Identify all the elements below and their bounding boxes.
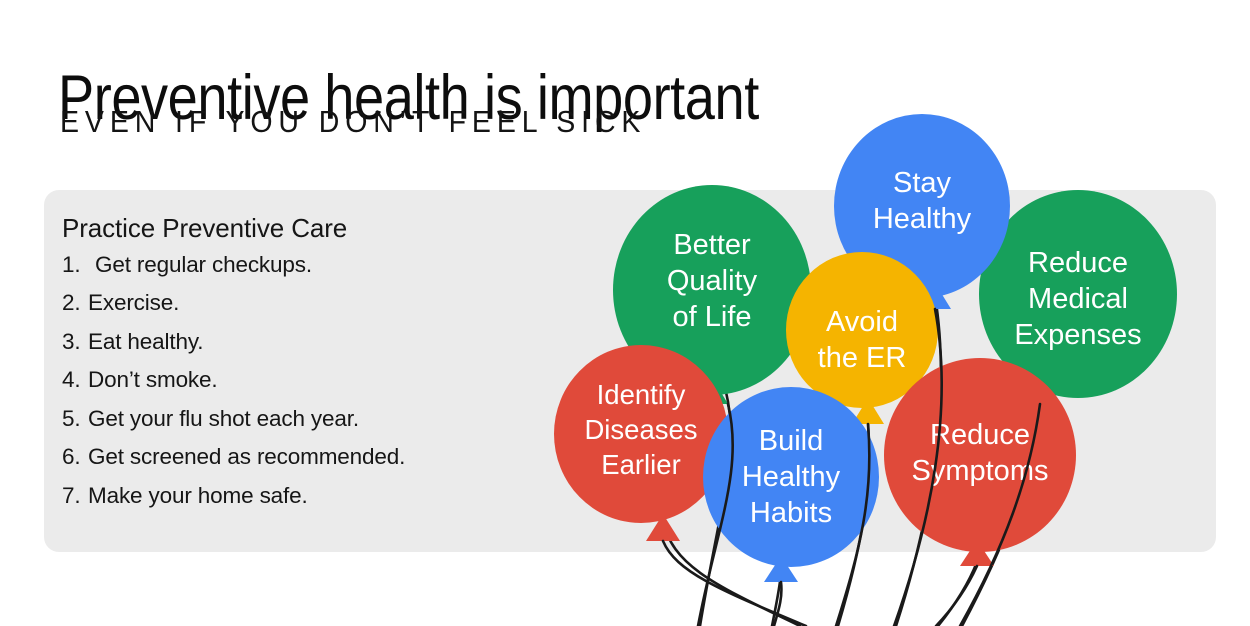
list-item-number: 1. [62, 254, 95, 277]
balloon-knot [764, 556, 798, 582]
page-subtitle: EVEN IF YOU DON’T FEEL SICK [60, 106, 646, 137]
string-build-healthy-habits [772, 540, 782, 626]
preventive-care-list: Practice Preventive Care 1. Get regular … [62, 214, 492, 523]
string-tail-build [774, 582, 781, 626]
list-item: 1. Get regular checkups. [62, 254, 492, 277]
string-reduce-symptoms [938, 562, 977, 626]
string-tail-identify [663, 541, 806, 626]
list-item-number: 2. [62, 292, 88, 315]
list-item: 5. Get your flu shot each year. [62, 408, 492, 431]
string-tail-symptoms [936, 566, 977, 626]
list-item-label: Eat healthy. [88, 331, 203, 354]
list-item-label: Get your flu shot each year. [88, 408, 359, 431]
list-item-label: Get regular checkups. [95, 254, 312, 277]
list-item-number: 6. [62, 446, 88, 469]
list-item: 3. Eat healthy. [62, 331, 492, 354]
list-item-label: Make your home safe. [88, 485, 308, 508]
list-item: 2. Exercise. [62, 292, 492, 315]
list-heading: Practice Preventive Care [62, 214, 492, 243]
list-item-number: 4. [62, 369, 88, 392]
list-item-number: 5. [62, 408, 88, 431]
list-item-label: Exercise. [88, 292, 179, 315]
list-item-label: Don’t smoke. [88, 369, 218, 392]
list-item: 4. Don’t smoke. [62, 369, 492, 392]
list-item-label: Get screened as recommended. [88, 446, 405, 469]
list-item-number: 3. [62, 331, 88, 354]
list-item: 6. Get screened as recommended. [62, 446, 492, 469]
list-item-number: 7. [62, 485, 88, 508]
list-item: 7. Make your home safe. [62, 485, 492, 508]
infographic-canvas: Preventive health is important EVEN IF Y… [0, 0, 1250, 626]
